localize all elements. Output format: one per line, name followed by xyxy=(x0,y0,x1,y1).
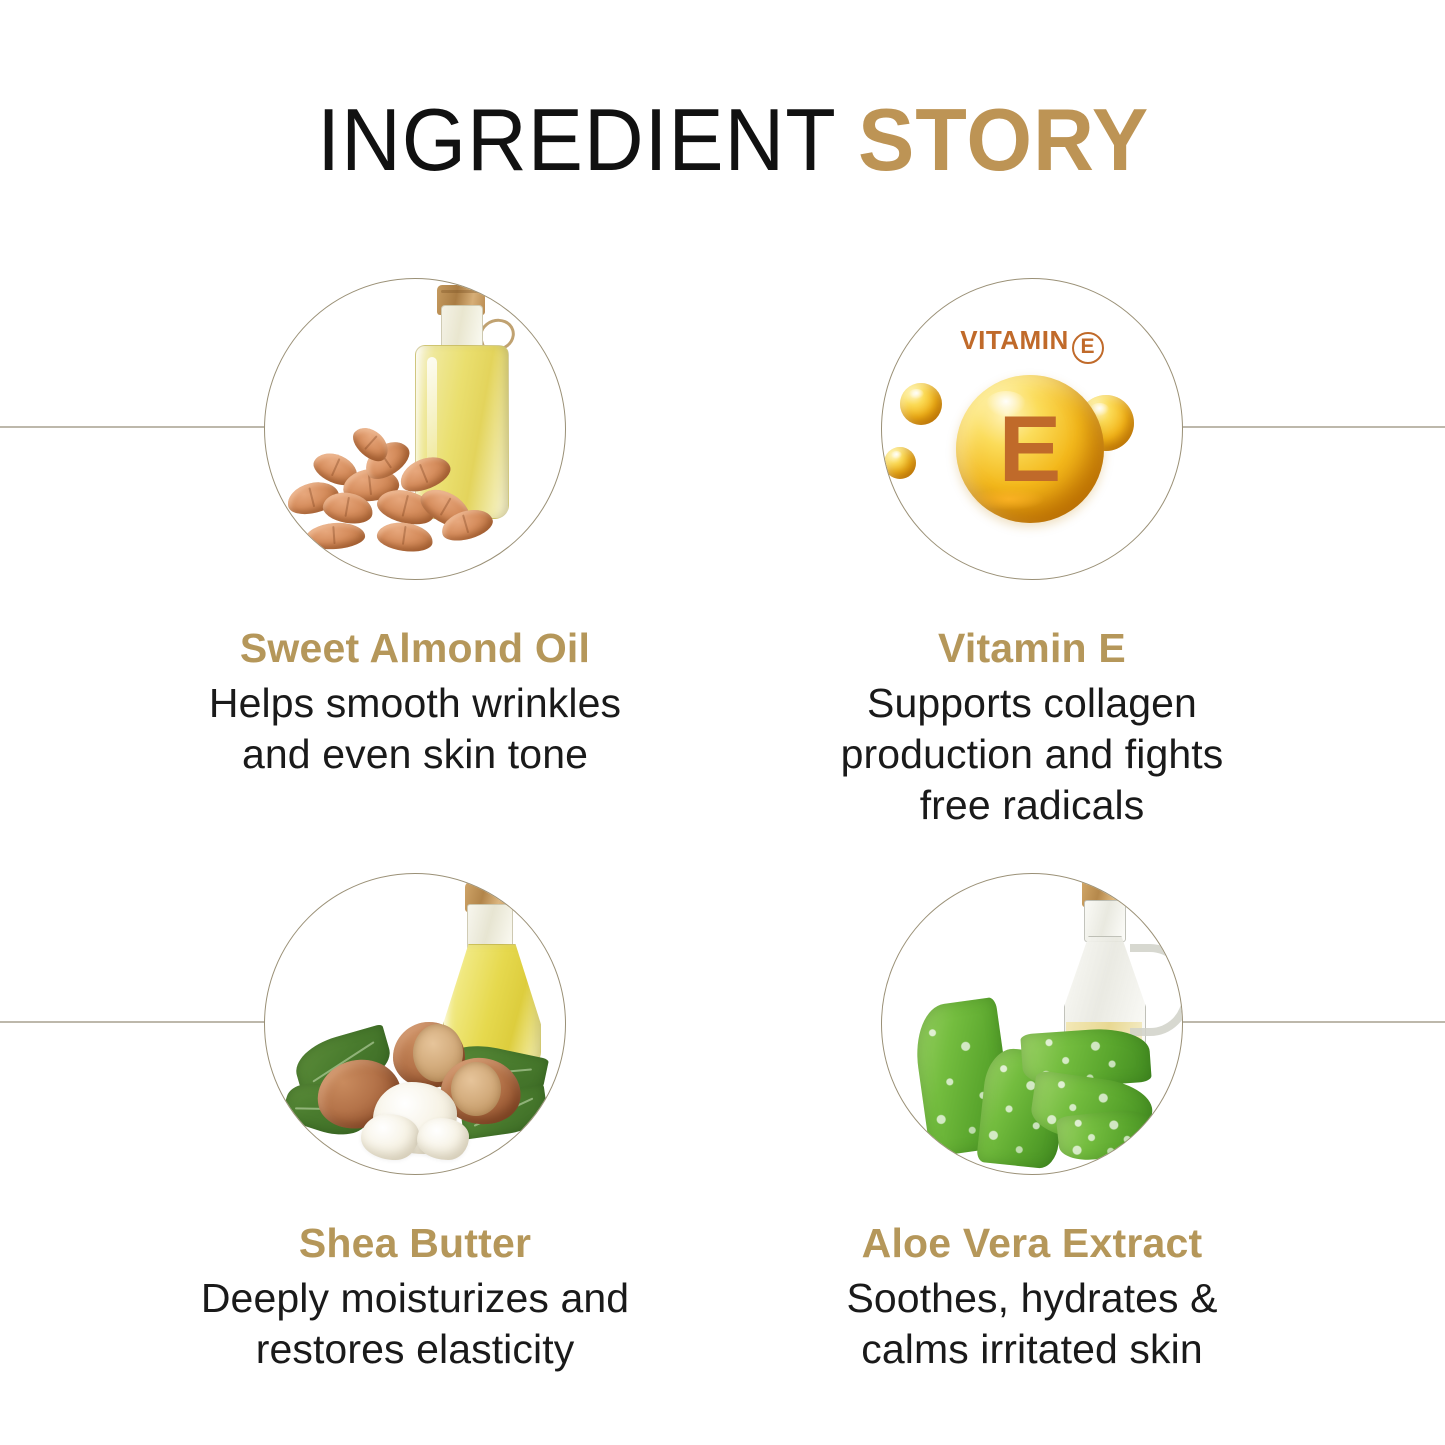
vitamin-e-badge-letter: E xyxy=(1072,332,1104,364)
shea-butter-image xyxy=(264,873,566,1175)
sweet-almond-oil-image xyxy=(264,278,566,580)
aloe-vera-illustration-icon xyxy=(882,874,1182,1174)
ingredient-name: Aloe Vera Extract xyxy=(722,1221,1342,1267)
vitamin-e-droplet-letter: E xyxy=(956,375,1104,523)
gold-bubble-icon xyxy=(900,383,942,425)
ingredient-story-page: INGREDIENTSTORY xyxy=(0,0,1445,1445)
almond-oil-illustration-icon xyxy=(265,279,565,579)
gold-bubble-icon xyxy=(884,447,916,479)
ingredient-description-line: production and fights xyxy=(722,729,1342,780)
ingredient-card-shea-butter: Shea Butter Deeply moisturizes and resto… xyxy=(105,873,725,1375)
ingredient-card-vitamin-e: VITAMINE E Vitamin E Supports collagen p… xyxy=(722,278,1342,830)
aloe-vera-image xyxy=(881,873,1183,1175)
ingredient-description-line: Helps smooth wrinkles xyxy=(105,678,725,729)
ingredient-description: Deeply moisturizes and restores elastici… xyxy=(105,1273,725,1375)
vitamin-e-illustration-icon: VITAMINE E xyxy=(882,279,1182,579)
ingredient-description-line: calms irritated skin xyxy=(722,1324,1342,1375)
vitamin-e-badge-text: VITAMIN xyxy=(960,325,1068,355)
ingredient-card-sweet-almond-oil: Sweet Almond Oil Helps smooth wrinkles a… xyxy=(105,278,725,780)
ingredient-name: Sweet Almond Oil xyxy=(105,626,725,672)
ingredient-card-aloe-vera-extract: Aloe Vera Extract Soothes, hydrates & ca… xyxy=(722,873,1342,1375)
shea-butter-illustration-icon xyxy=(265,874,565,1174)
vitamin-e-image: VITAMINE E xyxy=(881,278,1183,580)
page-title-accent: STORY xyxy=(858,96,1149,184)
page-title-main: INGREDIENT xyxy=(317,96,837,184)
ingredient-name: Vitamin E xyxy=(722,626,1342,672)
ingredient-description-line: restores elasticity xyxy=(105,1324,725,1375)
ingredient-description-line: Deeply moisturizes and xyxy=(105,1273,725,1324)
ingredient-description: Helps smooth wrinkles and even skin tone xyxy=(105,678,725,780)
vitamin-e-badge: VITAMINE xyxy=(882,325,1182,364)
ingredient-description-line: Supports collagen xyxy=(722,678,1342,729)
ingredient-description-line: Soothes, hydrates & xyxy=(722,1273,1342,1324)
ingredient-name: Shea Butter xyxy=(105,1221,725,1267)
ingredient-description-line: and even skin tone xyxy=(105,729,725,780)
ingredient-description-line: free radicals xyxy=(722,780,1342,831)
ingredient-description: Soothes, hydrates & calms irritated skin xyxy=(722,1273,1342,1375)
ingredient-description: Supports collagen production and fights … xyxy=(722,678,1342,830)
page-title: INGREDIENTSTORY xyxy=(0,96,1445,184)
